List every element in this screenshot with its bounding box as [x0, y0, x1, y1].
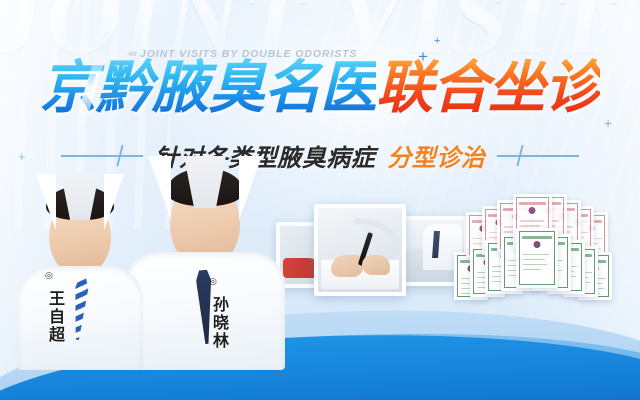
lapel-left: [148, 156, 171, 220]
doctor-portraits: ◎ 王自超 ◎ 孙晓林: [14, 160, 290, 370]
decorative-rule-right: [497, 145, 579, 165]
title-orange-segment: 联合坐诊: [376, 55, 600, 121]
photo-image: [318, 208, 402, 292]
photo-card-center: [314, 204, 406, 296]
photo-card-group: [280, 192, 458, 304]
certificate-fan: [452, 186, 640, 314]
page-title: 京黔腋臭名医联合坐诊: [0, 60, 640, 117]
subtitle-orange-segment: 分型诊治: [387, 138, 485, 173]
title-blue-segment: 京黔腋臭名医: [40, 55, 376, 121]
lapel-left: [36, 174, 56, 230]
doctor-name-mark-icon: ◎: [45, 271, 53, 280]
doctor-name-2: 孙晓林: [206, 292, 228, 354]
certificate-card: [516, 228, 558, 288]
doctor-name-1: 王自超: [42, 286, 64, 348]
doctor-name-mark-icon: ◎: [209, 277, 217, 286]
doctor-portrait-2: [122, 156, 288, 370]
lapel-right: [104, 174, 124, 230]
lapel-right: [239, 156, 262, 220]
promo-banner: JOINT VISIT + + + + ‹‹‹JOINT VISITS BY D…: [0, 0, 640, 400]
